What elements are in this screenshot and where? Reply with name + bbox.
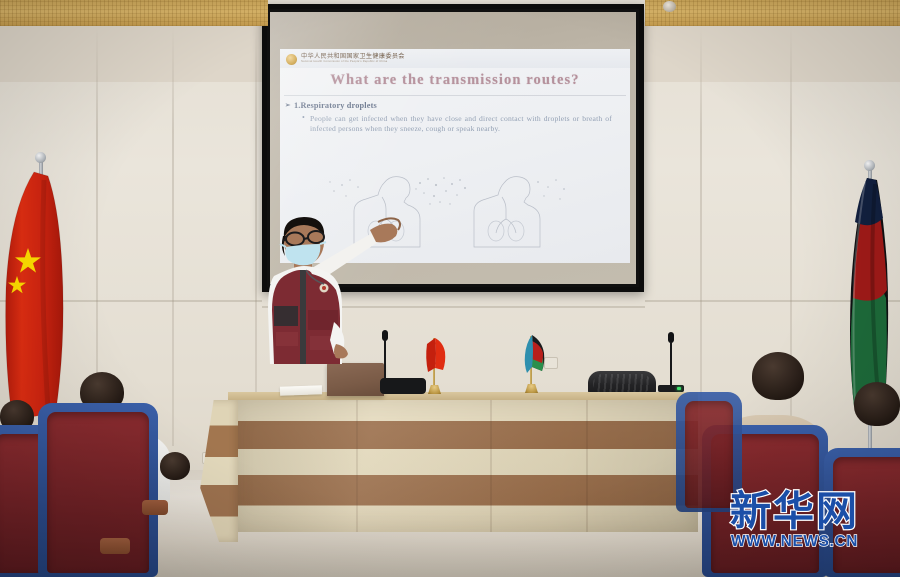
wall-outlet [544,357,558,369]
slide-bullet-level1: 1.Respiratory droplets [280,101,630,110]
presenter [250,214,410,404]
audience-member-head [854,382,900,426]
desk-flag-china [424,332,446,398]
audience-member-head [160,452,190,480]
flag-of-china-standing [4,170,72,420]
seat-armrest [142,500,168,515]
flagpole-finial [35,152,46,163]
wall-seam [700,26,702,446]
desk-flag-south-sudan [521,330,545,398]
photo-scene: 中华人民共和国国家卫生健康委员会 National Health Commiss… [0,0,900,577]
national-emblem-icon [286,54,297,65]
audience-member-head [752,352,804,400]
flag-of-south-sudan-standing [845,178,893,408]
flagpole-finial [864,160,875,171]
watermark-text-cn: 新华网 [730,492,859,531]
slide-bullet-level2: People can get infected when they have c… [310,114,612,135]
seat-armrest [100,538,130,554]
auditorium-seat [38,403,158,577]
watermark-text-en: WWW.NEWS.CN [730,533,859,551]
ceiling-light-fixture [663,1,676,12]
striped-tablecloth [228,400,698,532]
slide-org-name-en: National Health Commission of the People… [301,61,405,64]
title-divider [284,95,626,96]
slide-title: What are the transmission routes? [280,68,630,95]
wall-seam [172,26,174,446]
watermark: 新华网 WWW.NEWS.CN [730,492,859,551]
ceiling-valance-right [645,0,900,26]
ceiling-valance-left [0,0,268,26]
slide-header: 中华人民共和国国家卫生健康委员会 National Health Commiss… [280,49,630,68]
